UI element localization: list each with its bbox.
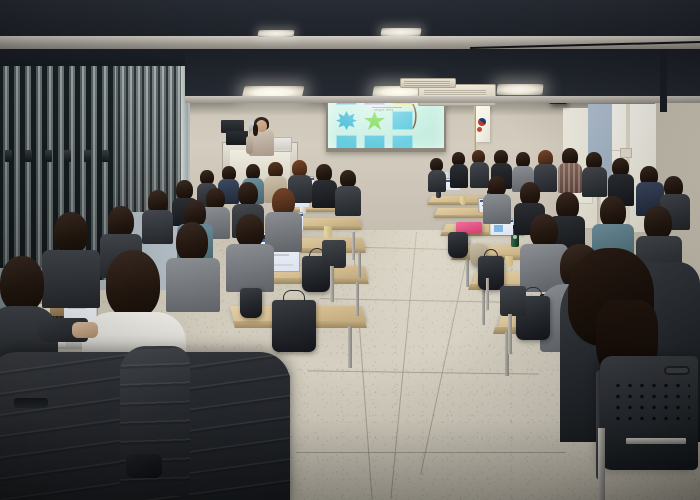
attendee-torso <box>483 194 511 224</box>
wall-outlet <box>620 148 632 158</box>
ceiling-beam <box>0 36 700 49</box>
attendee-torso <box>142 210 173 244</box>
ac-grille-far <box>404 81 450 86</box>
bag-handle <box>484 249 498 257</box>
slide-tile-cyan-5 <box>392 135 413 148</box>
paper-cup <box>505 256 513 267</box>
attendee-torso <box>428 170 446 192</box>
attendee-head <box>54 212 88 254</box>
slide-tile-star-green <box>364 111 385 130</box>
bag-on-chair <box>240 288 262 318</box>
chair-grip-handle[interactable] <box>664 366 690 375</box>
partition-hinge <box>102 150 109 162</box>
attendee-head <box>236 214 264 248</box>
chair-leg <box>486 278 489 310</box>
ceiling-light-3 <box>496 84 543 95</box>
classroom-photo-scene: shape label shape tiles ↙ ) <box>0 0 700 500</box>
jacket-pocket <box>14 398 48 408</box>
attendee-torso <box>42 250 100 308</box>
bag-on-floor <box>478 256 504 290</box>
bag-on-floor <box>272 300 316 352</box>
desk-leg <box>356 282 359 316</box>
attendee-torso <box>470 162 489 188</box>
bag-handle <box>524 287 542 297</box>
attendee-hand <box>72 322 98 338</box>
screen-text-line <box>273 254 289 256</box>
paper-cup <box>460 196 466 205</box>
attendee-torso <box>450 164 468 188</box>
attendee-torso <box>226 244 274 292</box>
partition-shading <box>110 62 186 212</box>
chair-leg <box>352 232 355 260</box>
slide-tile-cyan-2 <box>392 111 413 130</box>
attendee-head <box>176 222 208 262</box>
bag-handle <box>283 290 305 302</box>
attendee-head-near <box>106 250 160 318</box>
attendee-torso <box>335 186 361 216</box>
desk-leg <box>358 252 361 278</box>
attendee-head <box>530 214 558 248</box>
partition-hinge <box>45 150 52 162</box>
desk-leg <box>466 259 469 287</box>
attendee-torso <box>166 258 220 312</box>
slide-bracket-annotation: ) <box>412 102 418 128</box>
slide-caption: shape tiles <box>374 108 394 112</box>
flag-mark <box>477 127 482 132</box>
chair-metal-bar <box>626 438 686 444</box>
chair-back[interactable] <box>500 286 526 316</box>
presenter-arm <box>246 136 253 154</box>
soffit-trim <box>185 96 700 103</box>
slide-tile-cyan-3 <box>336 135 357 148</box>
ceiling-light-5 <box>257 30 294 37</box>
attendee-head-near <box>0 256 44 312</box>
partition-hinge <box>84 150 91 162</box>
partition-hinge <box>64 150 71 162</box>
partition-hinge <box>25 150 32 162</box>
attendee-torso <box>312 180 337 208</box>
attendee-head <box>176 180 193 200</box>
chair-leg-right <box>598 428 605 500</box>
ceiling-light-4 <box>380 28 421 36</box>
slide-tile-cyan-4 <box>364 135 385 148</box>
chair-back[interactable] <box>322 240 346 268</box>
attendee-head <box>644 206 672 240</box>
ceiling-conduit <box>660 50 667 112</box>
flag-taeguk-icon <box>478 118 486 126</box>
chair-perforation-pattern <box>612 380 690 424</box>
chair-leg <box>508 314 512 354</box>
slide-tile-burst <box>336 111 357 130</box>
partition-hinge <box>5 150 12 162</box>
tumbler-logo-icon <box>513 235 517 239</box>
jacket-cuff <box>126 454 162 478</box>
attendee-torso <box>582 167 607 197</box>
attendee-torso <box>558 163 582 193</box>
desk-leg <box>348 326 352 368</box>
laptop-screen-panel <box>494 225 503 232</box>
desk-leg <box>482 289 485 325</box>
confidence-monitor <box>226 131 248 145</box>
attendee-head <box>238 182 258 206</box>
paper-cup <box>324 226 332 238</box>
bag-on-floor <box>448 232 468 258</box>
floor-grout-line <box>296 452 566 453</box>
presenter-hair-side <box>253 124 258 136</box>
chair-leg <box>330 266 334 302</box>
